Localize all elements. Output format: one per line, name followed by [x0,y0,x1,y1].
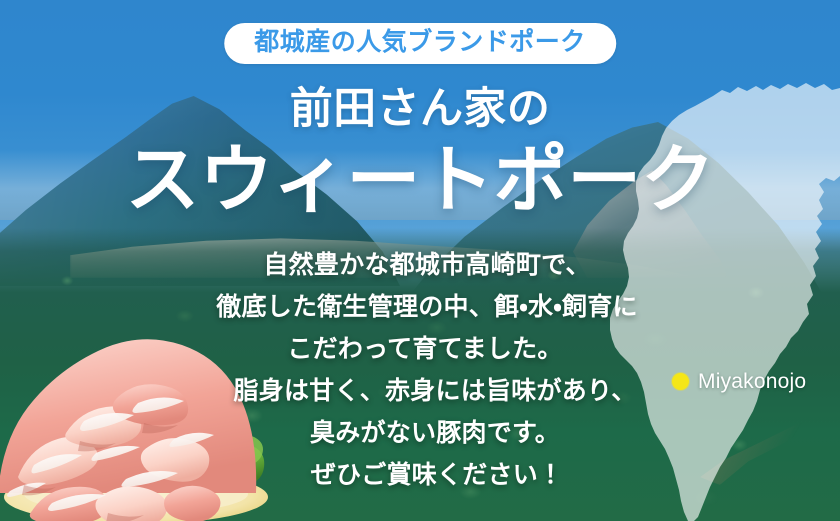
product-banner: Miyakonojo [0,0,840,521]
description-line: 自然豊かな都城市高崎町で、 [0,244,840,286]
product-title-sub: 前田さん家の [0,88,840,131]
description-line: 臭みがない豚肉です。 [0,412,840,454]
product-description: 自然豊かな都城市高崎町で、 徹底した衛生管理の中、餌・水・飼育に こだわって育て… [0,244,840,496]
brand-tagline-badge: 都城産の人気ブランドポーク [224,23,616,64]
description-line: 徹底した衛生管理の中、餌・水・飼育に [0,286,840,328]
product-title-main: スウィートポーク [0,143,840,217]
description-line: こだわって育てました。 [0,328,840,370]
description-line: ぜひご賞味ください！ [0,454,840,496]
description-line: 脂身は甘く、赤身には旨味があり、 [0,370,840,412]
